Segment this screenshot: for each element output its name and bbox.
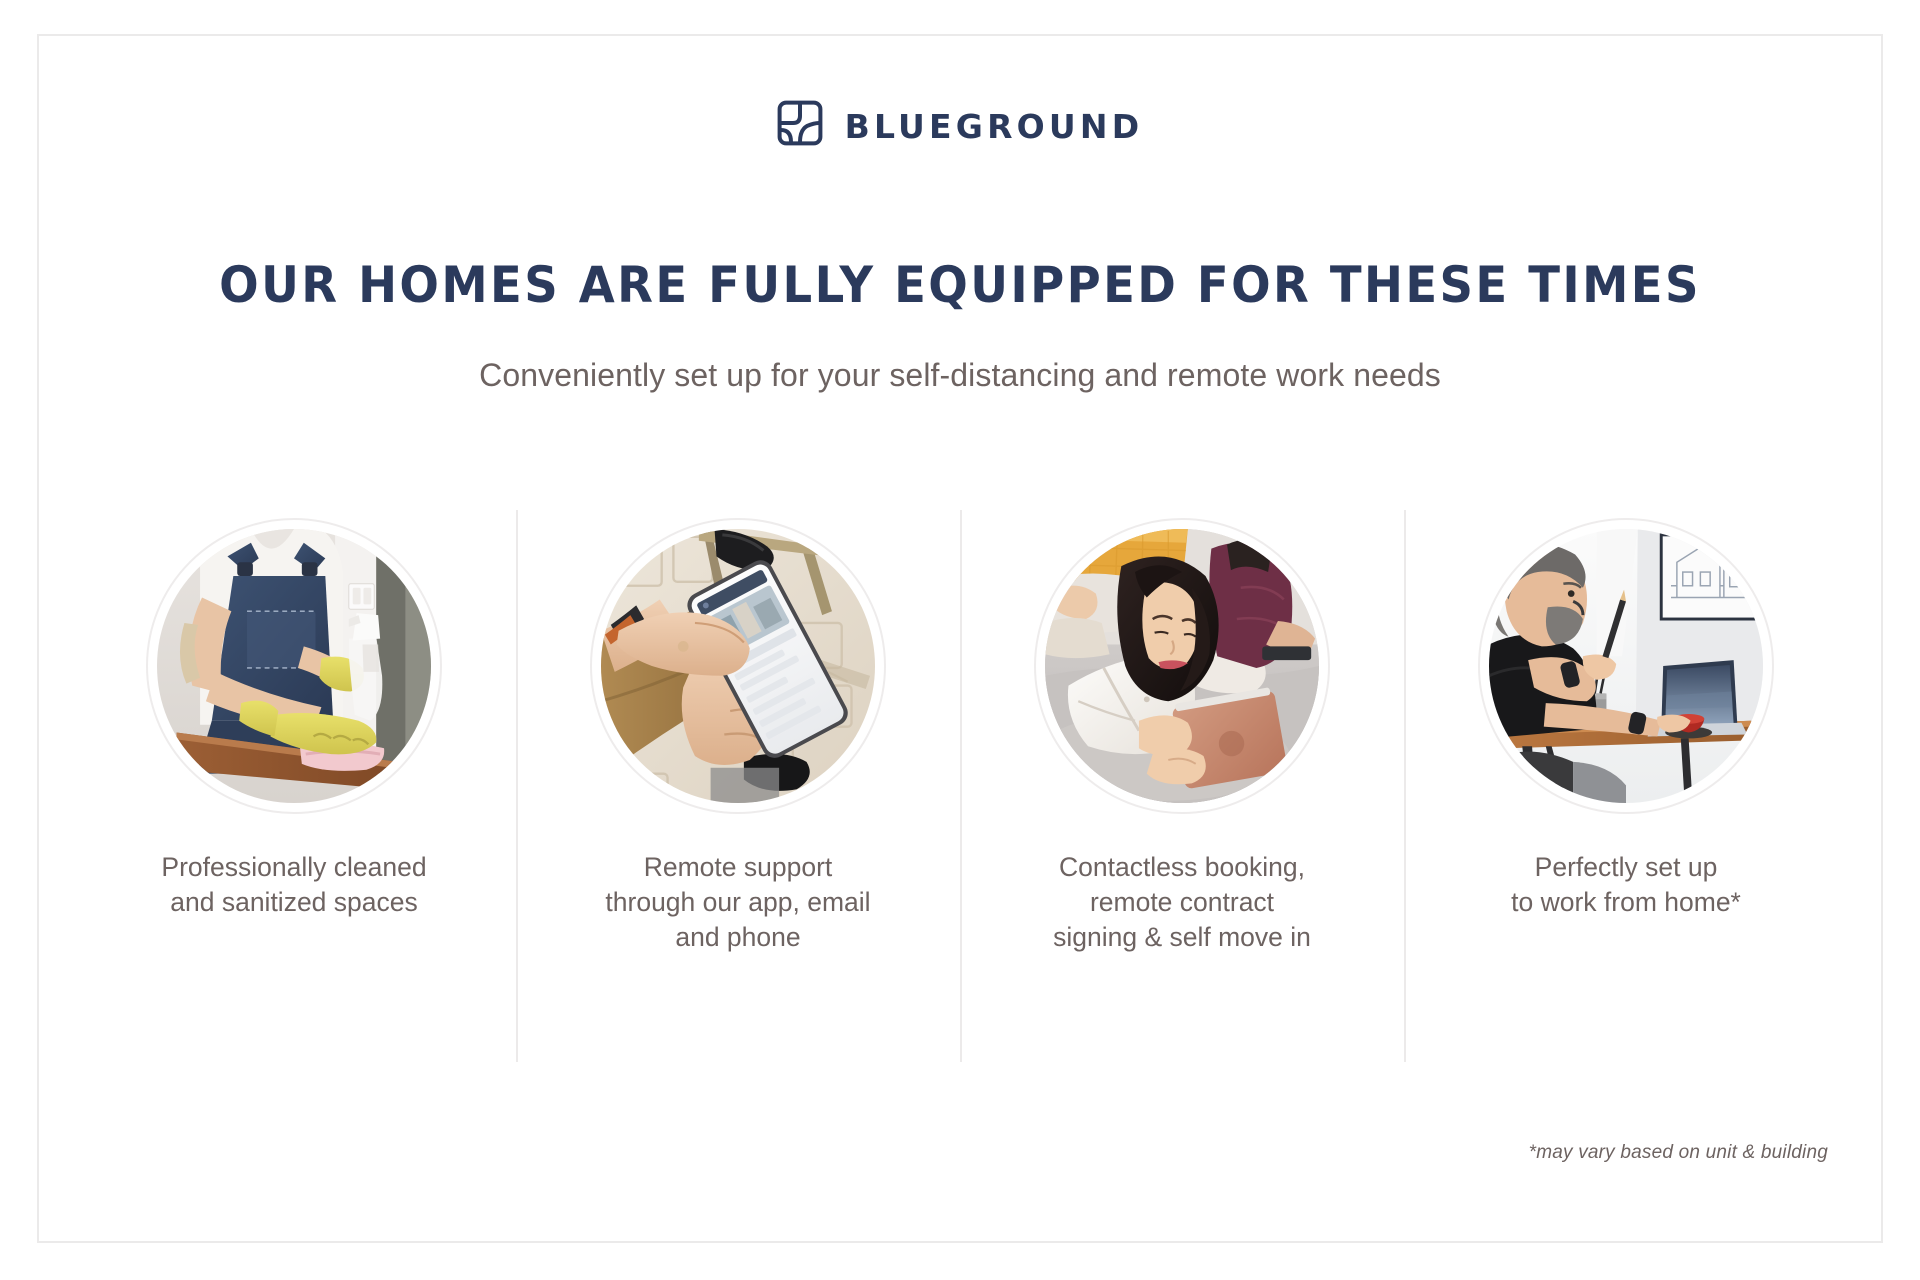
feature-columns: Professionally cleaned and sanitized spa… [72, 510, 1848, 1062]
photo-remote-support-phone [601, 529, 875, 803]
brand-logo: BLUEGROUND [0, 100, 1920, 151]
photo-ring [1478, 518, 1774, 814]
page-subtitle: Conveniently set up for your self-distan… [0, 355, 1920, 397]
feature-caption: Perfectly set up to work from home* [1511, 850, 1741, 920]
feature-column-remote-support: Remote support through our app, email an… [516, 510, 960, 1062]
photo-work-from-home-desk [1489, 529, 1763, 803]
photo-contactless-booking-tablet [1045, 529, 1319, 803]
photo-cleaning-professional [157, 529, 431, 803]
feature-column-work-from-home: Perfectly set up to work from home* [1404, 510, 1848, 1062]
brand-wordmark: BLUEGROUND [845, 108, 1144, 143]
feature-caption: Professionally cleaned and sanitized spa… [161, 850, 426, 920]
footnote-disclaimer: *may vary based on unit & building [1529, 1142, 1828, 1164]
photo-ring [590, 518, 886, 814]
poster-canvas: BLUEGROUND OUR HOMES ARE FULLY EQUIPPED … [0, 0, 1920, 1280]
blueground-square-mark-icon [777, 100, 823, 151]
feature-column-cleaning: Professionally cleaned and sanitized spa… [72, 510, 516, 1062]
feature-column-contactless-booking: Contactless booking, remote contract sig… [960, 510, 1404, 1062]
feature-caption: Remote support through our app, email an… [605, 850, 870, 956]
photo-ring [146, 518, 442, 814]
photo-ring [1034, 518, 1330, 814]
page-title: OUR HOMES ARE FULLY EQUIPPED FOR THESE T… [67, 258, 1853, 313]
feature-caption: Contactless booking, remote contract sig… [1053, 850, 1311, 956]
